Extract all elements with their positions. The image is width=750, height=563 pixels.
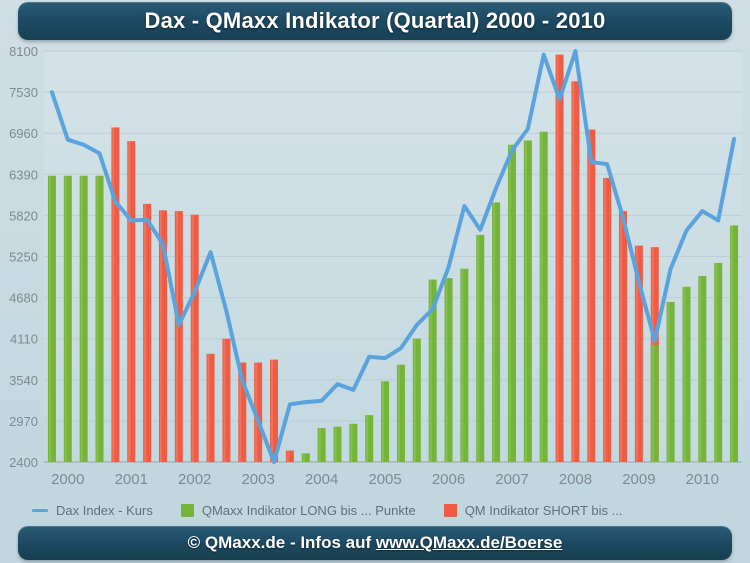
chart-bar-highlight — [271, 360, 273, 462]
window-title-bar: Dax - QMaxx Indikator (Quartal) 2000 - 2… — [18, 2, 732, 40]
legend-item-dax-line[interactable]: Dax Index - Kurs — [32, 503, 153, 518]
y-axis-tick-label: 2400 — [9, 455, 38, 470]
chart-bar-highlight — [477, 235, 479, 462]
chart-area: 8100753069606390582052504680411035402970… — [0, 44, 750, 494]
chart-bar-highlight — [446, 278, 448, 462]
x-axis-tick-label: 2001 — [115, 471, 148, 488]
chart-bar-highlight — [683, 287, 685, 462]
short-swatch-icon — [444, 504, 457, 517]
chart-bar-highlight — [620, 211, 622, 462]
x-axis-tick-label: 2005 — [368, 471, 401, 488]
y-axis-tick-label: 6960 — [9, 126, 38, 141]
chart-bar-highlight — [572, 81, 574, 462]
x-axis-tick-label: 2009 — [622, 471, 655, 488]
chart-bar-highlight — [128, 141, 130, 462]
y-axis-tick-label: 7530 — [9, 85, 38, 100]
chart-bar-highlight — [509, 145, 511, 462]
y-axis-tick-label: 8100 — [9, 44, 38, 59]
x-axis-tick-label: 2000 — [51, 471, 84, 488]
chart-bar-highlight — [652, 345, 654, 462]
legend-item-long[interactable]: QMaxx Indikator LONG bis ... Punkte — [181, 503, 416, 518]
legend-label-long: QMaxx Indikator LONG bis ... Punkte — [202, 503, 416, 518]
page-title: Dax - QMaxx Indikator (Quartal) 2000 - 2… — [145, 8, 606, 34]
chart-bar-highlight — [715, 263, 717, 462]
chart-bar-highlight — [493, 202, 495, 462]
footer-website-link[interactable]: www.QMaxx.de/Boerse — [376, 533, 562, 552]
legend-label-dax: Dax Index - Kurs — [56, 503, 153, 518]
chart-bar-highlight — [81, 176, 83, 462]
chart-bar-highlight — [699, 276, 701, 462]
y-axis-tick-label: 4680 — [9, 291, 38, 306]
chart-bar-highlight — [319, 428, 321, 462]
chart-bar-highlight — [668, 302, 670, 462]
chart-bar-highlight — [588, 130, 590, 462]
chart-bar-highlight — [541, 132, 543, 462]
chart-bar-highlight — [731, 225, 733, 462]
y-axis-tick-label: 2970 — [9, 414, 38, 429]
chart-bar-highlight — [334, 427, 336, 462]
chart-bar-highlight — [287, 450, 289, 462]
chart-bar-highlight — [112, 127, 114, 462]
chart-bar-highlight — [65, 176, 67, 462]
x-axis-tick-label: 2002 — [178, 471, 211, 488]
footer-bar: © QMaxx.de - Infos auf www.QMaxx.de/Boer… — [18, 526, 732, 560]
long-swatch-icon — [181, 504, 194, 517]
chart-screenshot: Dax - QMaxx Indikator (Quartal) 2000 - 2… — [0, 0, 750, 563]
line-swatch-icon — [32, 509, 48, 512]
chart-bar-highlight — [176, 211, 178, 462]
chart-bar-highlight — [223, 339, 225, 462]
chart-bar-highlight — [461, 269, 463, 462]
x-axis-tick-label: 2007 — [495, 471, 528, 488]
footer-prefix: © QMaxx.de - Infos auf — [188, 533, 376, 552]
chart-bar-highlight — [303, 453, 305, 462]
chart-bar-highlight — [97, 176, 99, 462]
chart-bar-highlight — [557, 55, 559, 462]
x-axis-tick-label: 2006 — [432, 471, 465, 488]
chart-legend: Dax Index - Kurs QMaxx Indikator LONG bi… — [0, 497, 750, 523]
x-axis-labels-group: 2000200120022003200420052006200720082009… — [51, 471, 719, 488]
chart-bar-highlight — [192, 215, 194, 462]
legend-label-short: QM Indikator SHORT bis ... — [465, 503, 623, 518]
chart-bar-highlight — [208, 354, 210, 462]
chart-bar-highlight — [398, 365, 400, 462]
chart-bar-highlight — [49, 176, 51, 462]
chart-bar-highlight — [350, 424, 352, 462]
chart-bar-highlight — [144, 204, 146, 462]
chart-bar-highlight — [604, 178, 606, 462]
chart-bar-highlight — [382, 381, 384, 462]
chart-bar-highlight — [414, 339, 416, 462]
y-axis-tick-label: 6390 — [9, 167, 38, 182]
chart-canvas: 8100753069606390582052504680411035402970… — [0, 44, 750, 494]
y-axis-labels-group: 8100753069606390582052504680411035402970… — [9, 44, 38, 470]
footer-text: © QMaxx.de - Infos auf www.QMaxx.de/Boer… — [188, 533, 563, 553]
chart-bar-highlight — [366, 415, 368, 462]
legend-item-short[interactable]: QM Indikator SHORT bis ... — [444, 503, 623, 518]
y-axis-tick-label: 4110 — [10, 332, 38, 347]
x-axis-tick-label: 2004 — [305, 471, 338, 488]
y-axis-tick-label: 5250 — [9, 250, 38, 265]
x-axis-tick-label: 2008 — [559, 471, 592, 488]
y-axis-tick-label: 5820 — [9, 208, 38, 223]
long-bars-group — [48, 132, 738, 462]
chart-bar-highlight — [160, 210, 162, 462]
y-axis-tick-label: 3540 — [9, 373, 38, 388]
x-axis-tick-label: 2010 — [686, 471, 719, 488]
chart-bar-highlight — [525, 140, 527, 462]
x-axis-tick-label: 2003 — [241, 471, 274, 488]
